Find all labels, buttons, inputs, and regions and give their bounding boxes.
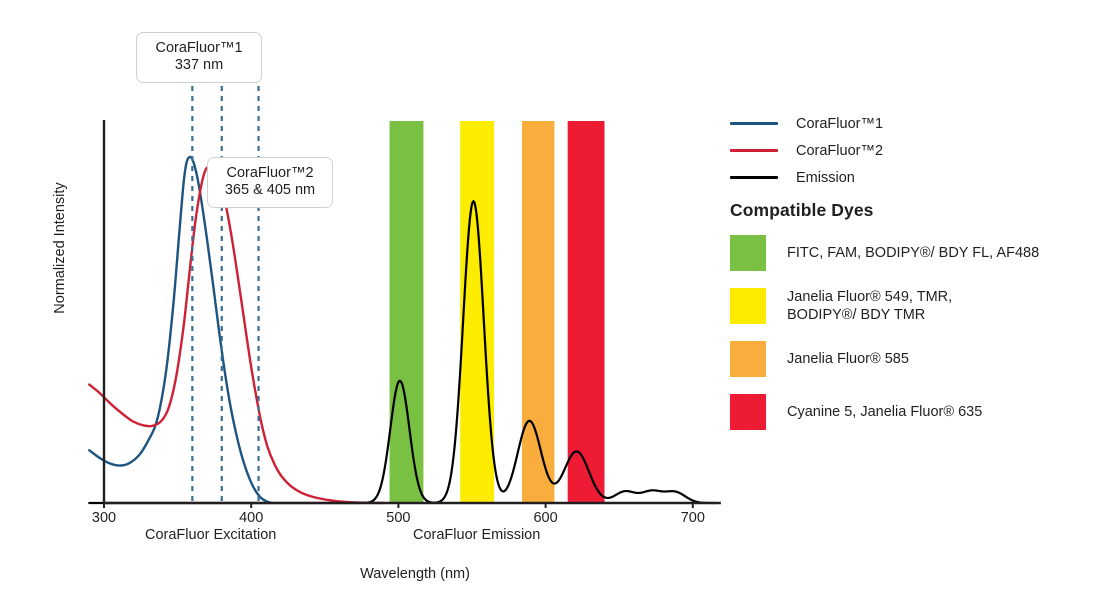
dye-label-line1: FITC, FAM, BODIPY®/ BDY FL, AF488 [787,244,1039,262]
callout-1-line1: CoraFluor™1 [147,40,251,57]
legend-line-swatch [730,122,778,125]
callout-1-line2: 337 nm [147,57,251,74]
red-band [568,121,605,503]
series-legend: CoraFluor™1 CoraFluor™2 Emission [730,110,1090,191]
xtick-600: 600 [516,510,576,526]
dye-label: Cyanine 5, Janelia Fluor® 635 [787,403,982,421]
axis-sublabel-emission: CoraFluor Emission [413,527,540,543]
dye-color-swatch [730,288,766,324]
compatible-dyes-list: FITC, FAM, BODIPY®/ BDY FL, AF488 Janeli… [730,235,1100,447]
dye-item-orange: Janelia Fluor® 585 [730,341,1100,377]
green-band [390,121,424,503]
legend-label: CoraFluor™1 [796,116,883,132]
legend-item-emission: Emission [730,164,1090,191]
dye-label: Janelia Fluor® 549, TMR, BODIPY®/ BDY TM… [787,288,952,324]
callout-2-line1: CoraFluor™2 [218,165,322,182]
xtick-400: 400 [221,510,281,526]
axis-sublabel-excitation: CoraFluor Excitation [145,527,276,543]
spectral-chart-figure: CoraFluor™1 337 nm CoraFluor™2 365 & 405… [0,0,1110,612]
x-axis-label: Wavelength (nm) [0,566,830,582]
emission-filter-bands [390,121,605,503]
callout-corafluor-2: CoraFluor™2 365 & 405 nm [207,157,333,208]
orange-band [522,121,554,503]
xtick-500: 500 [368,510,428,526]
legend-line-swatch [730,176,778,179]
legend-label: CoraFluor™2 [796,143,883,159]
legend-item-corafluor-2: CoraFluor™2 [730,137,1090,164]
compatible-dyes-title: Compatible Dyes [730,200,873,221]
legend-item-corafluor-1: CoraFluor™1 [730,110,1090,137]
dye-label-line1: Janelia Fluor® 549, TMR, [787,288,952,306]
dye-item-yellow: Janelia Fluor® 549, TMR, BODIPY®/ BDY TM… [730,288,1100,324]
legend-line-swatch [730,149,778,152]
legend-label: Emission [796,170,855,186]
y-axis-label: Normalized Intensity [52,168,68,328]
xtick-300: 300 [74,510,134,526]
dye-color-swatch [730,394,766,430]
dye-color-swatch [730,235,766,271]
dye-item-green: FITC, FAM, BODIPY®/ BDY FL, AF488 [730,235,1100,271]
dye-item-red: Cyanine 5, Janelia Fluor® 635 [730,394,1100,430]
callout-2-line2: 365 & 405 nm [218,182,322,199]
dye-label-line2: BODIPY®/ BDY TMR [787,306,952,324]
callout-corafluor-1: CoraFluor™1 337 nm [136,32,262,83]
dye-label: FITC, FAM, BODIPY®/ BDY FL, AF488 [787,244,1039,262]
dye-label: Janelia Fluor® 585 [787,350,909,368]
yellow-band [460,121,494,503]
dye-color-swatch [730,341,766,377]
dye-label-line1: Cyanine 5, Janelia Fluor® 635 [787,403,982,421]
xtick-700: 700 [663,510,723,526]
excitation-marker-lines [192,86,258,503]
curve-corafluor2 [89,167,383,503]
dye-label-line1: Janelia Fluor® 585 [787,350,909,368]
